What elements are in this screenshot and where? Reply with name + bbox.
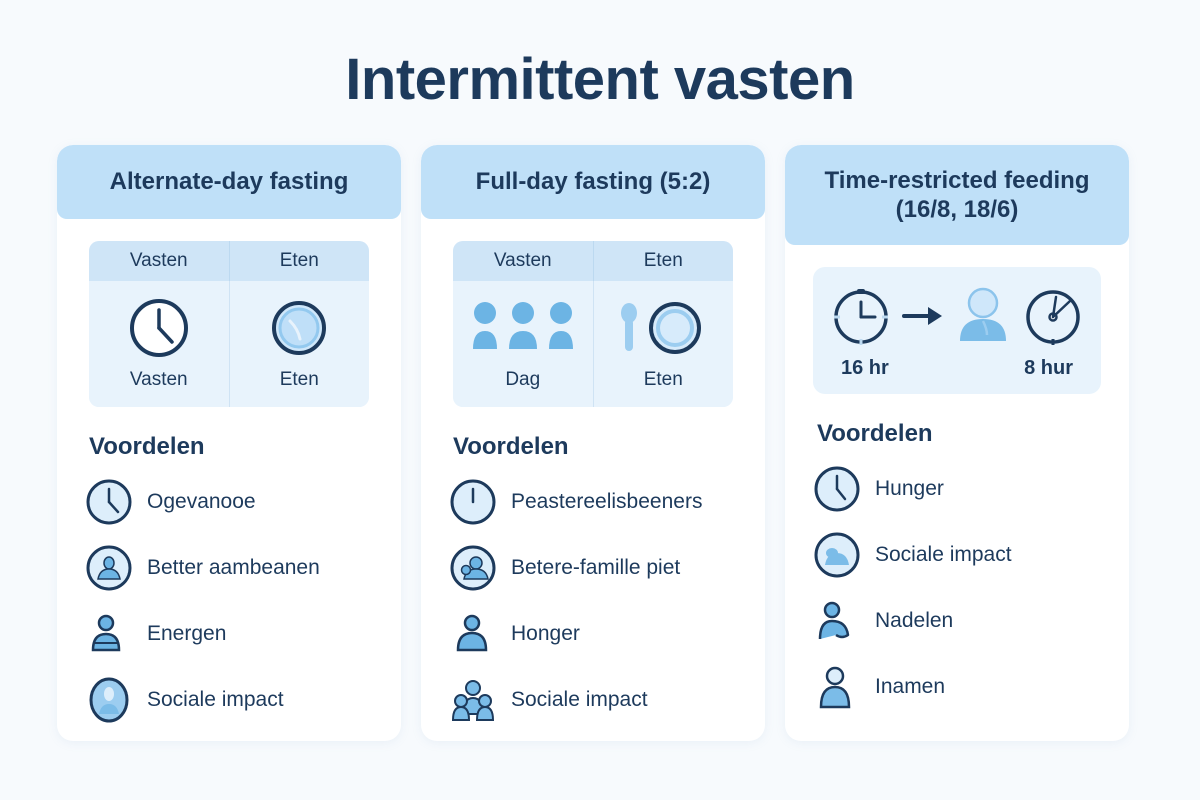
table-cell-label: Vasten (130, 369, 188, 391)
table-header-row: Vasten Eten (89, 241, 369, 281)
list-item: Ogevanooe (85, 469, 383, 535)
benefit-label: Betere-famille piet (511, 556, 680, 580)
benefit-label: Energen (147, 622, 226, 646)
card-header: Alternate-day fasting (57, 145, 401, 219)
person-icon (813, 597, 861, 645)
table-cell-fasting: Vasten (89, 281, 229, 407)
table-cell-eating: Eten (593, 281, 734, 407)
benefits-list: Peastereelisbeeners Betere-famille piet (421, 469, 765, 733)
person-circle-icon (85, 544, 133, 592)
person-circle-icon (813, 531, 861, 579)
benefit-label: Honger (511, 622, 580, 646)
table-column-header-fasting: Vasten (453, 241, 593, 281)
list-item: Betere-famille piet (449, 535, 747, 601)
fasting-duration-label: 16 hr (841, 357, 889, 380)
three-people-icon (463, 295, 583, 361)
benefits-title: Voordelen (89, 433, 401, 461)
person-circle-icon (449, 544, 497, 592)
infographic-page: Intermittent vasten Alternate-day fastin… (0, 0, 1200, 800)
table-column-header-eating: Eten (229, 241, 370, 281)
person-icon (952, 283, 1014, 349)
benefits-title: Voordelen (453, 433, 765, 461)
table-cell-fasting: Dag (453, 281, 593, 407)
list-item: Honger (449, 601, 747, 667)
card-title-line-2: (16/8, 18/6) (825, 195, 1090, 224)
benefit-label: Sociale impact (147, 688, 284, 712)
benefits-title: Voordelen (817, 420, 1129, 448)
table-column-header-fasting: Vasten (89, 241, 229, 281)
table-header-row: Vasten Eten (453, 241, 733, 281)
person-icon (85, 610, 133, 658)
benefit-label: Ogevanooe (147, 490, 256, 514)
page-title: Intermittent vasten (0, 46, 1200, 113)
list-item: Peastereelisbeeners (449, 469, 747, 535)
table-body-row: Vasten Eten (89, 281, 369, 407)
schedule-table: Vasten Eten (453, 241, 733, 407)
benefits-list: Hunger Sociale impact (785, 456, 1129, 720)
list-item: Hunger (813, 456, 1111, 522)
list-item: Sociale impact (449, 667, 747, 733)
card-title-line-1: Time-restricted feeding (825, 166, 1090, 195)
card-title: Time-restricted feeding (16/8, 18/6) (825, 166, 1090, 225)
list-item: Nadelen (813, 588, 1111, 654)
table-cell-label: Eten (280, 369, 319, 391)
family-icon (449, 676, 497, 724)
clock-circle-icon (85, 478, 133, 526)
person-circle-icon (85, 676, 133, 724)
table-body-row: Dag Eten (453, 281, 733, 407)
table-cell-eating: Eten (229, 281, 370, 407)
benefit-label: Sociale impact (875, 543, 1012, 567)
benefit-label: Sociale impact (511, 688, 648, 712)
card-alternate-day-fasting: Alternate-day fasting Vasten Eten (57, 145, 401, 741)
card-full-day-fasting: Full-day fasting (5:2) Vasten Eten (421, 145, 765, 741)
benefit-label: Better aambeanen (147, 556, 320, 580)
spoon-plate-icon (613, 295, 713, 361)
schedule-labels-row: 16 hr 8 hur (825, 349, 1089, 380)
list-item: Sociale impact (85, 667, 383, 733)
clock-circle-icon (813, 465, 861, 513)
arrow-right-icon (900, 301, 946, 331)
benefit-label: Hunger (875, 477, 944, 501)
schedule-icons-row (825, 283, 1089, 349)
benefits-list: Ogevanooe Better aambeanen (57, 469, 401, 733)
card-time-restricted-feeding: Time-restricted feeding (16/8, 18/6) (785, 145, 1129, 741)
list-item: Inamen (813, 654, 1111, 720)
list-item: Sociale impact (813, 522, 1111, 588)
eating-duration-label: 8 hur (1024, 357, 1073, 380)
cards-container: Alternate-day fasting Vasten Eten (57, 145, 1147, 741)
benefit-label: Inamen (875, 675, 945, 699)
person-icon (813, 663, 861, 711)
list-item: Better aambeanen (85, 535, 383, 601)
benefit-label: Peastereelisbeeners (511, 490, 702, 514)
schedule-table: Vasten Eten Vasten (89, 241, 369, 407)
plate-icon (268, 295, 330, 361)
person-icon (449, 610, 497, 658)
clock-circle-icon (449, 478, 497, 526)
table-cell-label: Dag (505, 369, 540, 391)
clock-icon (1020, 283, 1086, 349)
list-item: Energen (85, 601, 383, 667)
clock-icon (828, 283, 894, 349)
table-cell-label: Eten (644, 369, 683, 391)
card-header: Time-restricted feeding (16/8, 18/6) (785, 145, 1129, 245)
schedule-panel: 16 hr 8 hur (813, 267, 1101, 394)
benefit-label: Nadelen (875, 609, 953, 633)
card-title: Full-day fasting (5:2) (476, 167, 711, 196)
table-column-header-eating: Eten (593, 241, 734, 281)
card-title: Alternate-day fasting (110, 167, 349, 196)
clock-icon (128, 295, 190, 361)
card-header: Full-day fasting (5:2) (421, 145, 765, 219)
